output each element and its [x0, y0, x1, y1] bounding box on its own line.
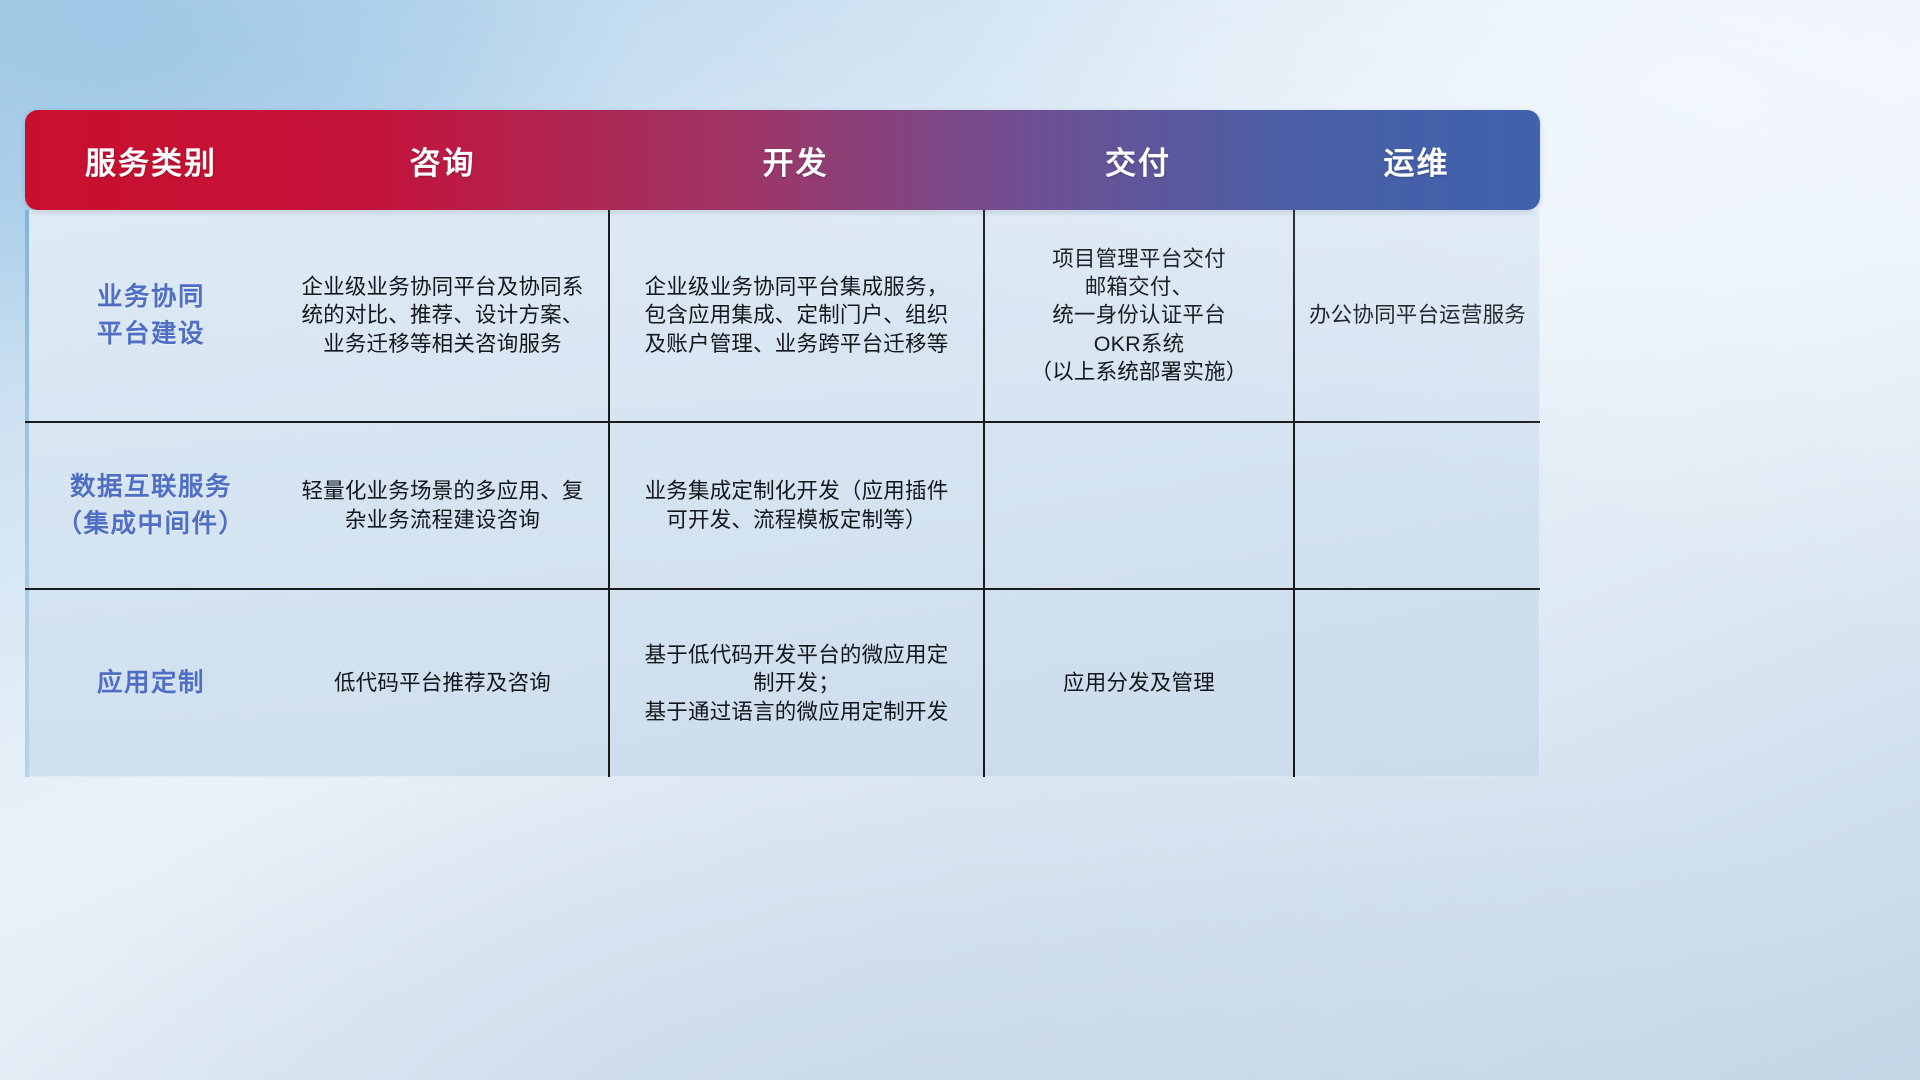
cell-r1-delivery: 项目管理平台交付 邮箱交付、 统一身份认证平台 OKR系统 （以上系统部署实施） [983, 210, 1293, 421]
cell-r1-operations: 办公协同平台运营服务 [1293, 210, 1540, 421]
service-matrix-table: 服务类别 咨询 开发 交付 运维 业务协同 平台建设 企业级业务协同平台及协同系… [25, 110, 1540, 777]
column-header-consulting: 咨询 [277, 138, 608, 183]
cell-r3-consulting: 低代码平台推荐及咨询 [277, 590, 608, 777]
row-label-business-collaboration: 业务协同 平台建设 [25, 210, 277, 421]
row-label-data-interconnect: 数据互联服务 （集成中间件） [25, 423, 277, 588]
cell-r2-consulting: 轻量化业务场景的多应用、复 杂业务流程建设咨询 [277, 423, 608, 588]
cell-r2-delivery [983, 423, 1293, 588]
table-row: 应用定制 低代码平台推荐及咨询 基于低代码开发平台的微应用定 制开发； 基于通过… [25, 588, 1540, 777]
cell-r1-consulting: 企业级业务协同平台及协同系 统的对比、推荐、设计方案、 业务迁移等相关咨询服务 [277, 210, 608, 421]
row-label-app-customization: 应用定制 [25, 590, 277, 777]
column-header-delivery: 交付 [983, 138, 1293, 183]
cell-r2-operations [1293, 423, 1540, 588]
cell-r1-development: 企业级业务协同平台集成服务， 包含应用集成、定制门户、组织 及账户管理、业务跨平… [608, 210, 983, 421]
column-header-development: 开发 [608, 138, 983, 183]
cell-r3-delivery: 应用分发及管理 [983, 590, 1293, 777]
cell-r3-operations [1293, 590, 1540, 777]
cell-r3-development: 基于低代码开发平台的微应用定 制开发； 基于通过语言的微应用定制开发 [608, 590, 983, 777]
table-row: 数据互联服务 （集成中间件） 轻量化业务场景的多应用、复 杂业务流程建设咨询 业… [25, 421, 1540, 588]
column-header-category: 服务类别 [25, 138, 277, 183]
column-header-operations: 运维 [1293, 138, 1540, 183]
table-row: 业务协同 平台建设 企业级业务协同平台及协同系 统的对比、推荐、设计方案、 业务… [25, 210, 1540, 421]
table-header-row: 服务类别 咨询 开发 交付 运维 [25, 110, 1540, 210]
cell-r2-development: 业务集成定制化开发（应用插件 可开发、流程模板定制等） [608, 423, 983, 588]
slide-canvas: 服务类别 咨询 开发 交付 运维 业务协同 平台建设 企业级业务协同平台及协同系… [0, 0, 1920, 1080]
table-body: 业务协同 平台建设 企业级业务协同平台及协同系 统的对比、推荐、设计方案、 业务… [25, 210, 1540, 777]
